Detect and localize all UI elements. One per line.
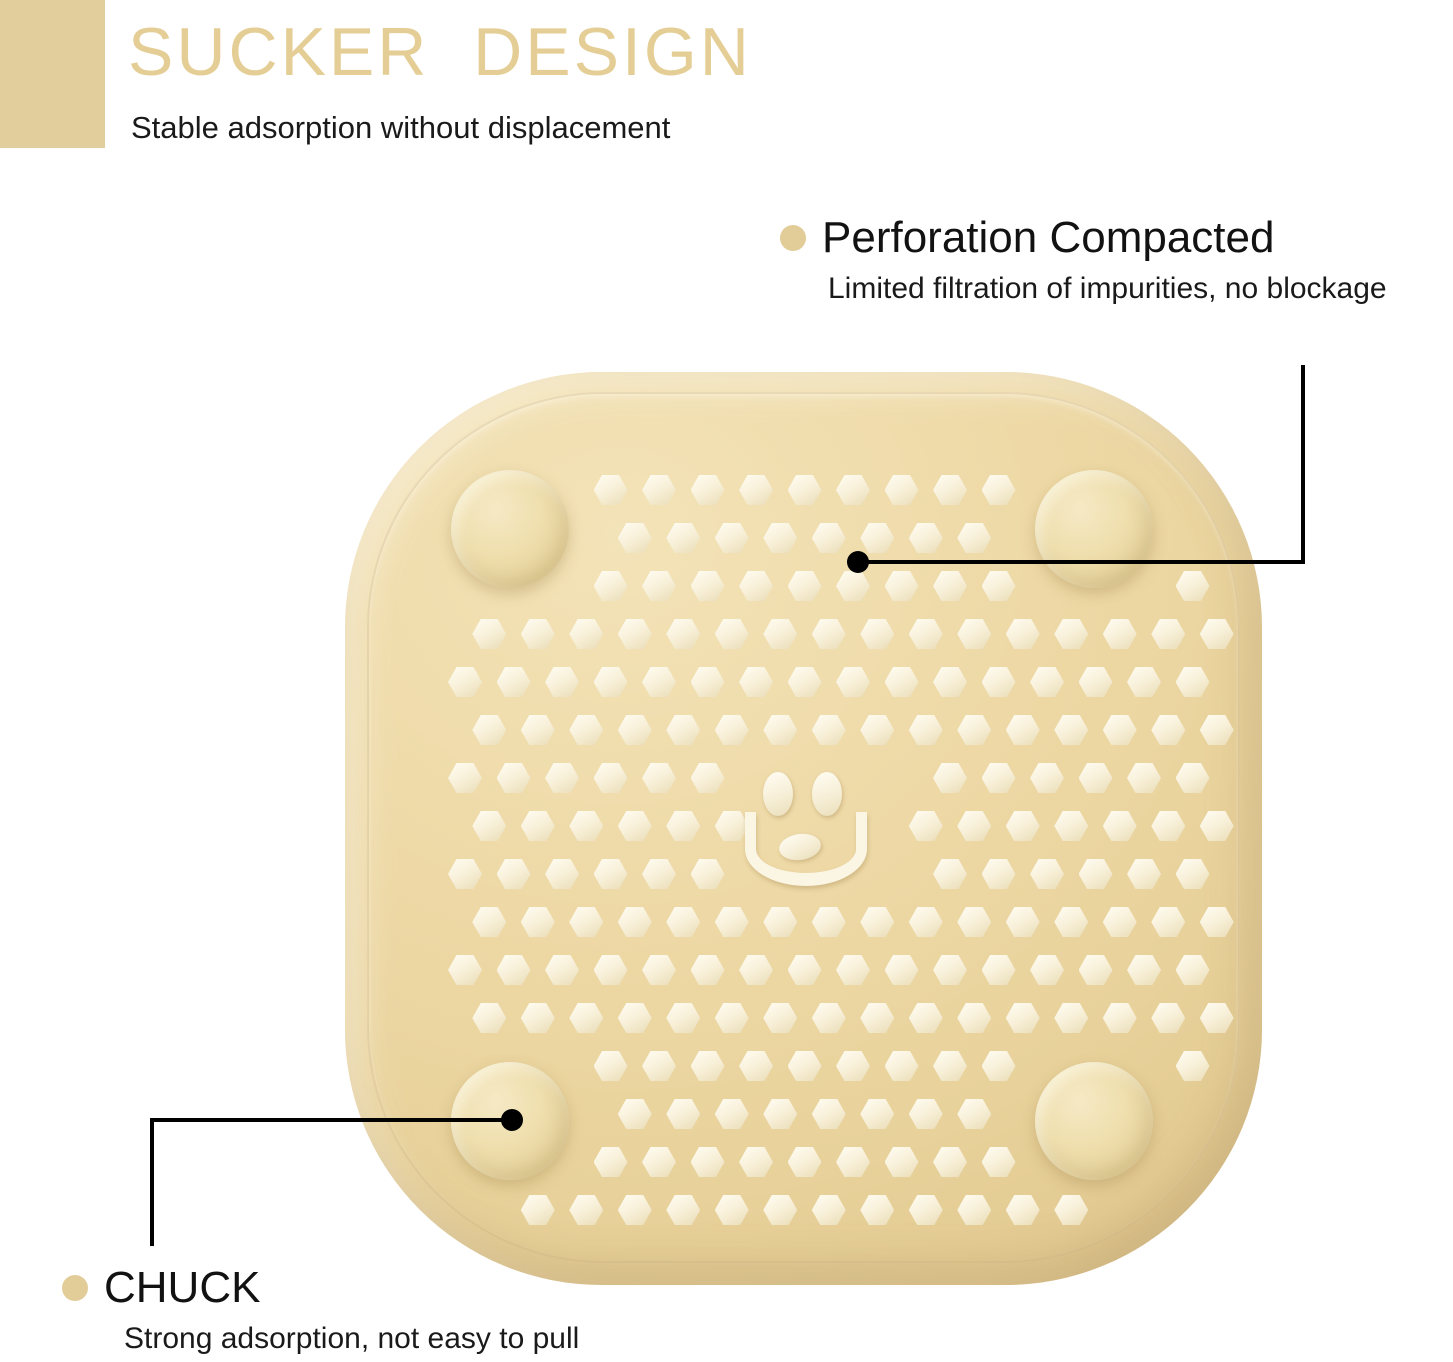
callout-perforation: Perforation Compacted Limited filtration…: [780, 212, 1387, 308]
product-image: [345, 372, 1262, 1285]
callout-chuck-title: CHUCK: [104, 1262, 260, 1314]
header-accent-block: [0, 0, 105, 148]
smiley-eye-left: [763, 772, 793, 816]
callout-chuck-head: CHUCK: [62, 1262, 579, 1314]
callout-chuck-subtitle: Strong adsorption, not easy to pull: [124, 1320, 579, 1358]
smiley-eye-right: [812, 772, 842, 816]
bullet-icon: [780, 225, 806, 251]
page-title: SUCKER DESIGN: [128, 10, 752, 94]
sucker-bottom-right: [1035, 1062, 1153, 1180]
sucker-top-left: [451, 470, 569, 588]
bullet-icon: [62, 1275, 88, 1301]
smiley-mouth: [745, 812, 867, 886]
callout-perforation-title: Perforation Compacted: [822, 212, 1274, 264]
callout-perforation-head: Perforation Compacted: [780, 212, 1387, 264]
callout-chuck: CHUCK Strong adsorption, not easy to pul…: [62, 1262, 579, 1358]
callout-perforation-subtitle: Limited filtration of impurities, no blo…: [828, 270, 1387, 308]
sucker-top-right: [1035, 470, 1153, 588]
sucker-bottom-left: [451, 1062, 569, 1180]
page-subtitle: Stable adsorption without displacement: [131, 108, 670, 148]
